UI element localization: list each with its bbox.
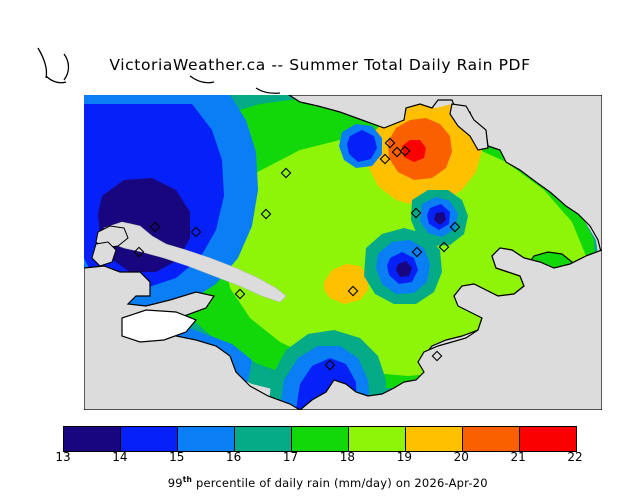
colorbar-segment-2 [178, 427, 235, 451]
colorbar-segment-8 [520, 427, 576, 451]
colorbar-segment-1 [121, 427, 178, 451]
caption-rest: percentile of daily rain (mm/day) on 202… [192, 476, 488, 490]
offshore-coast-fragment-4 [190, 76, 214, 83]
caption-prefix: 99 [168, 476, 183, 490]
colorbar[interactable] [63, 426, 577, 452]
weather-map-page: VictoriaWeather.ca -- Summer Total Daily… [0, 0, 640, 480]
offshore-coast-fragment-2 [46, 76, 66, 83]
map-panel [0, 0, 640, 420]
colorbar-segment-0 [64, 427, 121, 451]
offshore-coast-fragment-5 [256, 88, 280, 93]
colorbar-segment-7 [463, 427, 520, 451]
colorbar-segment-6 [406, 427, 463, 451]
offshore-coast-fragment-1 [38, 48, 47, 78]
colorbar-segment-5 [349, 427, 406, 451]
offshore-coast-fragment-3 [64, 54, 69, 80]
colorbar-caption: 99th percentile of daily rain (mm/day) o… [0, 461, 640, 504]
contour-map-svg [0, 0, 640, 420]
colorbar-segment-4 [292, 427, 349, 451]
colorbar-segment-3 [235, 427, 292, 451]
